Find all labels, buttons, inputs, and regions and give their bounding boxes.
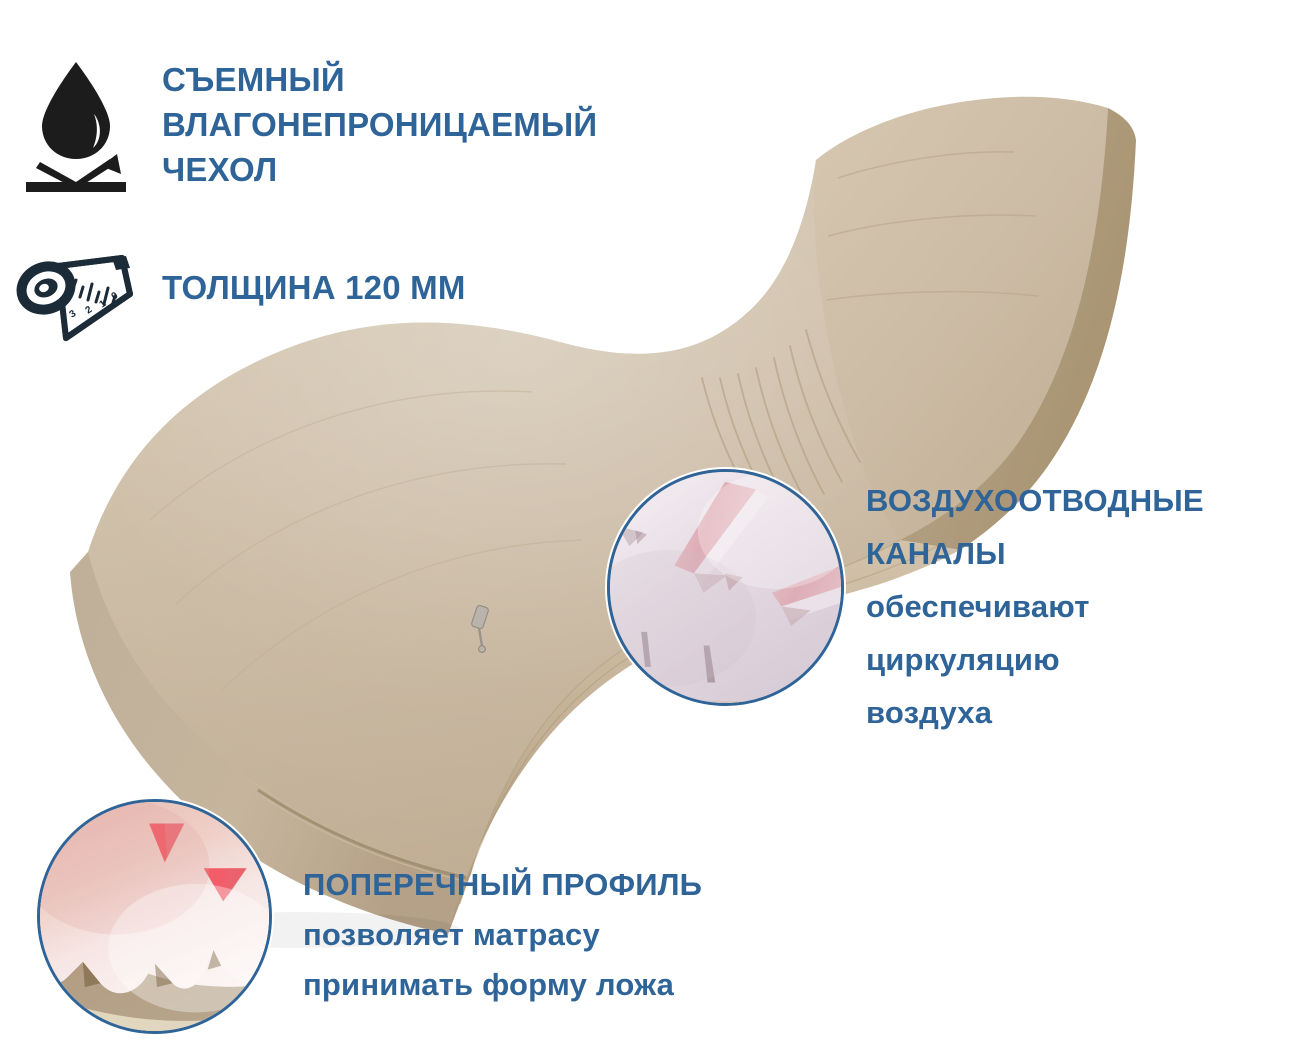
waterproof-icon-svg [22, 58, 130, 194]
tape-measure-icon-svg: 3 2 1 0 [14, 252, 134, 350]
feature-profile-heading-line1: ПОПЕРЕЧНЫЙ ПРОФИЛЬ [303, 860, 702, 910]
feature-air-channels-text: ВОЗДУХООТВОДНЫЕ КАНАЛЫ обеспечивают цирк… [866, 474, 1204, 739]
waterproof-droplet-icon [22, 58, 130, 194]
zipper-pull-icon [471, 605, 489, 653]
feature-cover-line2: ВЛАГОНЕПРОНИЦАЕМЫЙ [162, 102, 597, 147]
feature-cover-line3: ЧЕХОЛ [162, 147, 597, 192]
feature-air-body-line3: воздуха [866, 686, 1204, 739]
cross-profile-foam-image [40, 802, 269, 1031]
feature-air-heading-line2: КАНАЛЫ [866, 527, 1204, 580]
feature-thickness-text: ТОЛЩИНА 120 ММ [162, 265, 466, 310]
feature-cover-line1: СЪЕМНЫЙ [162, 57, 597, 102]
feature-air-body-line2: циркуляцию [866, 633, 1204, 686]
cross-profile-closeup-callout [37, 799, 272, 1034]
mattress-body-folds [150, 391, 582, 690]
feature-cross-profile-text: ПОПЕРЕЧНЫЙ ПРОФИЛЬ позволяет матрасу при… [303, 860, 702, 1010]
feature-air-heading-line1: ВОЗДУХООТВОДНЫЕ [866, 474, 1204, 527]
feature-thickness-line1: ТОЛЩИНА 120 ММ [162, 265, 466, 310]
feature-cover-text: СЪЕМНЫЙ ВЛАГОНЕПРОНИЦАЕМЫЙ ЧЕХОЛ [162, 57, 597, 192]
tape-measure-icon: 3 2 1 0 [14, 252, 134, 350]
mattress-zipper [258, 605, 489, 882]
feature-profile-body-line2: принимать форму ложа [303, 960, 702, 1010]
feature-air-body-line1: обеспечивают [866, 580, 1204, 633]
feature-profile-body-line1: позволяет матрасу [303, 910, 702, 960]
air-channel-foam-image [610, 472, 841, 703]
air-channel-closeup-callout [607, 469, 844, 706]
mattress-head-folds [826, 152, 1038, 300]
infographic-page: 3 2 1 0 СЪЕМНЫЙ ВЛАГОНЕПРОНИЦАЕМЫЙ ЧЕХОЛ… [0, 0, 1293, 1056]
mattress-left-end-face [70, 520, 122, 572]
